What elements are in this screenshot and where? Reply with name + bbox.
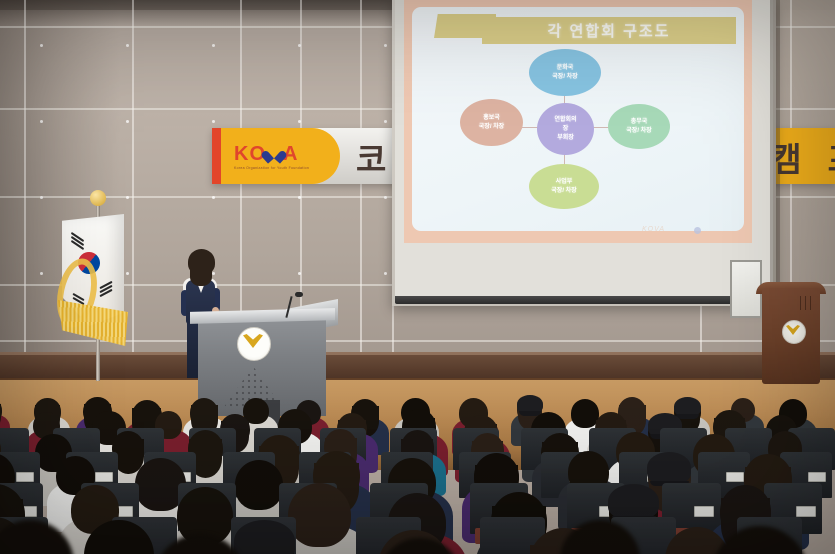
org-node-bottom: 사업부 국장/ 차장 — [529, 164, 599, 209]
org-node-center-line3: 부회장 — [557, 134, 574, 143]
wall-fastener-icon — [298, 44, 301, 47]
org-node-top: 문화국 국장/ 차장 — [529, 49, 601, 96]
wall-fastener-icon — [212, 44, 215, 47]
wall-fastener-icon — [126, 272, 129, 275]
org-node-right-line1: 총무국 — [631, 118, 648, 127]
screen-right-shadow — [770, 0, 780, 306]
projected-slide: 각 연합회 구조도 문화국 국장/ 차장 홍보국 국장/ 차장 연합회의 장 부… — [404, 0, 752, 243]
wall-fastener-icon — [126, 120, 129, 123]
org-node-right-line2: 국장/ 차장 — [626, 127, 651, 136]
slide-watermark: KOVA — [642, 226, 665, 233]
baseboard-highlight — [0, 352, 835, 355]
org-node-left: 홍보국 국장/ 차장 — [460, 99, 523, 146]
org-node-center-line1: 연합회의 — [554, 116, 576, 125]
slide-canvas: 각 연합회 구조도 문화국 국장/ 차장 홍보국 국장/ 차장 연합회의 장 부… — [412, 7, 744, 231]
kova-logo: KOA Korea Organization for Youth Foundat… — [234, 144, 329, 170]
org-node-top-line1: 문화국 — [557, 64, 574, 73]
slide-watermark-dot-icon — [694, 227, 701, 234]
kova-subtitle: Korea Organization for Youth Foundation — [234, 166, 329, 170]
wall-fastener-icon — [384, 120, 387, 123]
banner-red-stripe — [212, 128, 221, 184]
wall-fastener-icon — [384, 272, 387, 275]
banner-title-right: 캠프 — [771, 133, 835, 181]
heart-icon — [267, 148, 282, 162]
wall-fastener-icon — [212, 120, 215, 123]
wall-fastener-icon — [384, 196, 387, 199]
wall-fastener-icon — [212, 272, 215, 275]
wall-seam-v-0 — [24, 0, 26, 372]
slide-title: 각 연합회 구조도 — [482, 17, 736, 44]
wall-fastener-icon — [298, 272, 301, 275]
microphone-icon — [295, 292, 303, 297]
audience-shadow — [0, 392, 835, 554]
wall-fastener-icon — [126, 44, 129, 47]
org-node-bottom-line1: 사업부 — [556, 178, 573, 187]
wall-fastener-icon — [40, 272, 43, 275]
kova-wordmark: KOA — [234, 144, 329, 164]
org-node-center-line2: 장 — [563, 125, 569, 134]
wall-seam-v-1 — [132, 0, 134, 372]
wall-fastener-icon — [384, 44, 387, 47]
wall-fastener-icon — [40, 196, 43, 199]
presenter-hair-back — [190, 266, 212, 286]
wall-fastener-icon — [298, 196, 301, 199]
wall-fastener-icon — [40, 120, 43, 123]
wall-seam-v-4 — [360, 0, 362, 372]
wall-fastener-icon — [298, 120, 301, 123]
org-node-bottom-line2: 국장/ 차장 — [551, 187, 576, 196]
auditorium-photo: KOA Korea Organization for Youth Foundat… — [0, 0, 835, 554]
wall-fastener-icon — [212, 196, 215, 199]
flag-finial-icon — [90, 190, 106, 206]
org-node-left-line2: 국장/ 차장 — [479, 123, 504, 132]
wall-fastener-icon — [126, 196, 129, 199]
wall-fastener-icon — [40, 44, 43, 47]
org-node-top-line2: 국장/ 차장 — [552, 73, 577, 82]
org-node-right: 총무국 국장/ 차장 — [608, 104, 670, 149]
org-node-left-line1: 홍보국 — [483, 114, 500, 123]
org-node-center: 연합회의 장 부회장 — [537, 103, 594, 155]
screen-bottom-bar — [395, 296, 773, 304]
